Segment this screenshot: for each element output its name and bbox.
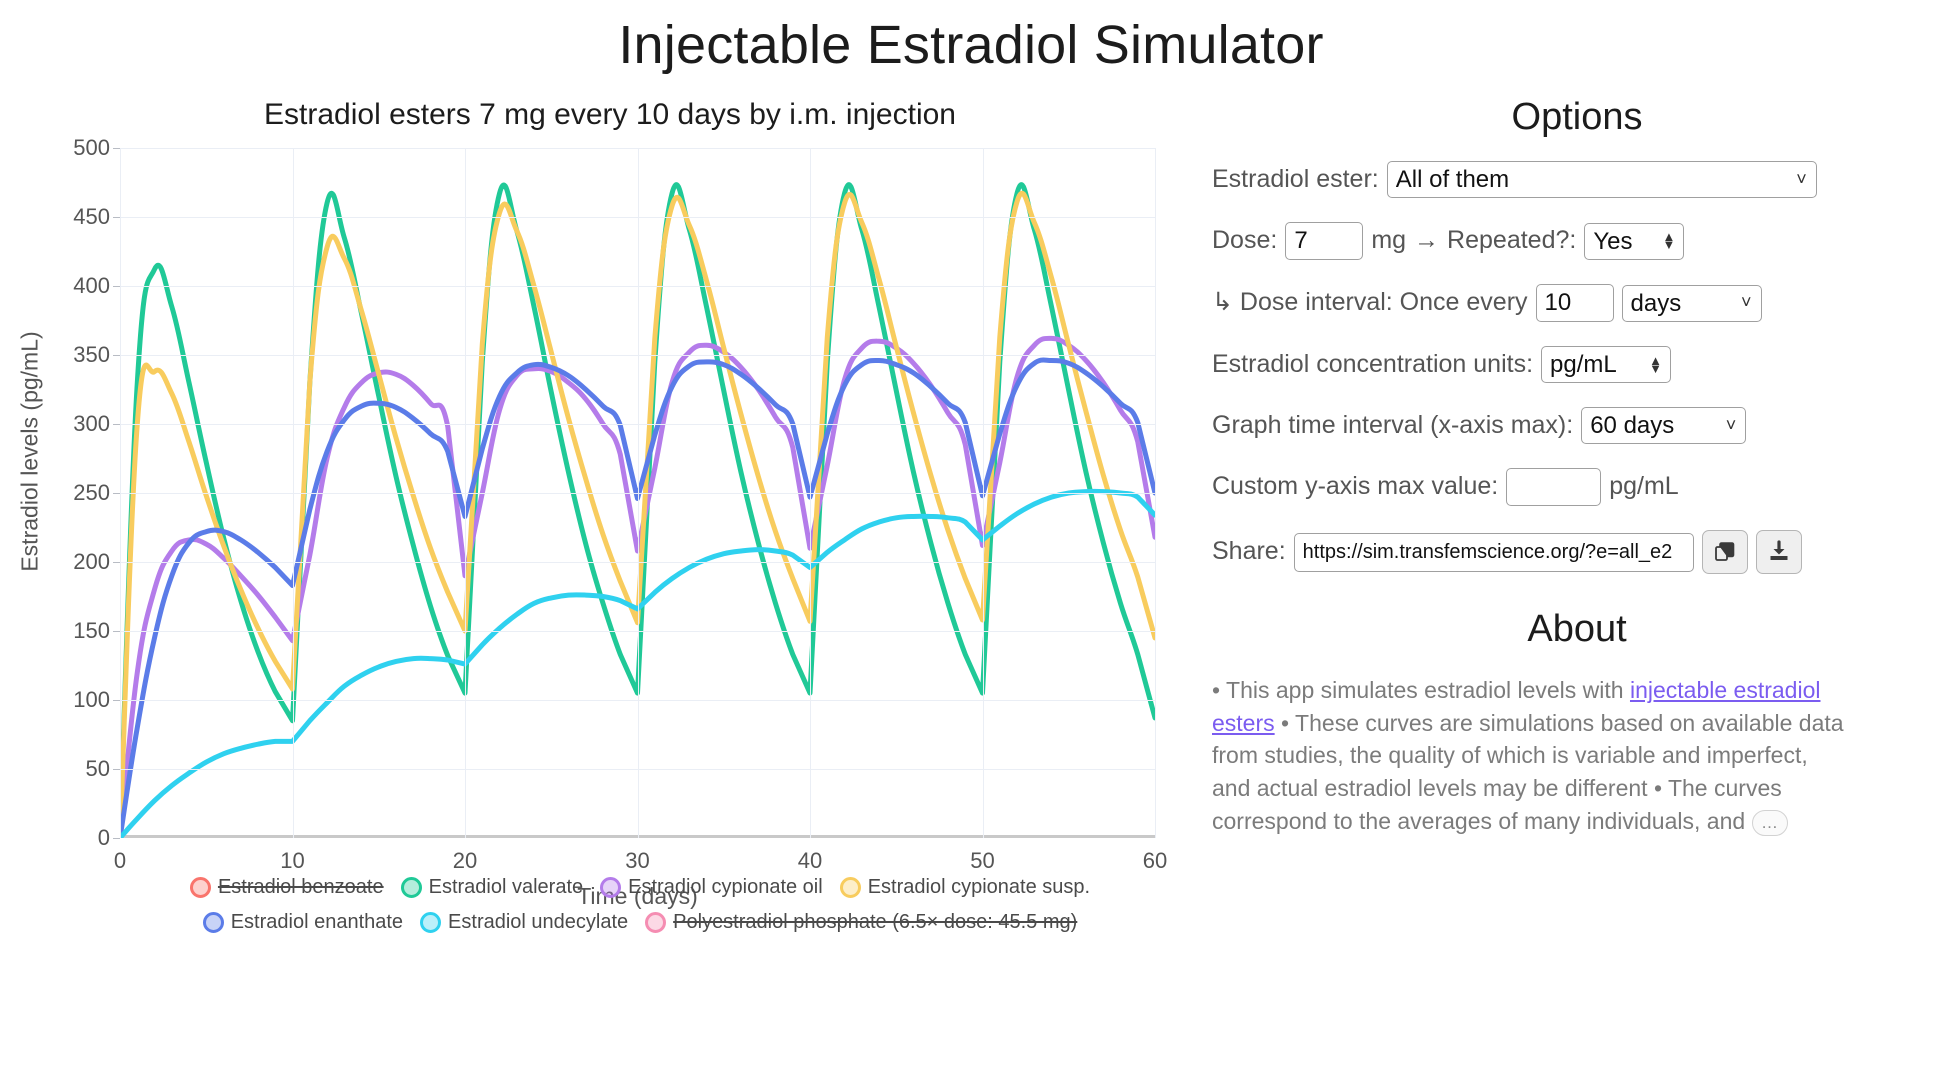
x-tick-label: 0 [80,848,160,874]
repeated-select[interactable]: Yes [1584,223,1684,260]
grid-line [465,148,466,838]
x-tick-label: 50 [943,848,1023,874]
units-label: Estradiol concentration units: [1212,351,1533,379]
dose-label: Dose: [1212,227,1277,255]
arrow-glyph: → [1414,227,1439,255]
legend-swatch-icon [600,877,621,898]
ymax-unit-label: pg/mL [1609,473,1678,501]
ymax-row: Custom y-axis max value: pg/mL [1212,468,1942,506]
interval-label: ↳ Dose interval: Once every [1212,289,1528,317]
options-heading: Options [1212,96,1942,139]
y-tick-label: 150 [10,618,110,644]
legend-swatch-icon [401,877,422,898]
legend-swatch-icon [190,877,211,898]
y-tick-mark [113,838,120,839]
copy-link-button[interactable] [1702,530,1748,574]
repeated-label: Repeated?: [1447,227,1576,255]
legend-item[interactable]: Estradiol cypionate oil [600,876,823,899]
dose-unit-label: mg [1371,227,1406,255]
units-select[interactable]: pg/mL [1541,346,1671,383]
legend-item[interactable]: Polyestradiol phosphate (6.5× dose: 45.5… [645,911,1077,934]
about-text: • This app simulates estradiol levels wi… [1212,674,1852,837]
legend-label: Estradiol undecylate [448,911,628,934]
y-tick-mark [113,769,120,770]
y-tick-label: 400 [10,273,110,299]
plot-area[interactable]: 0501001502002503003504004505000102030405… [120,148,1155,838]
y-tick-mark [113,493,120,494]
page-title: Injectable Estradiol Simulator [0,14,1942,76]
ester-label: Estradiol ester: [1212,166,1379,194]
legend-label: Polyestradiol phosphate (6.5× dose: 45.5… [673,911,1077,934]
share-row: Share: [1212,530,1942,574]
units-select-wrap[interactable]: pg/mL ▲▼ [1541,346,1671,383]
y-tick-mark [113,217,120,218]
y-tick-label: 500 [10,135,110,161]
main-layout: Estradiol esters 7 mg every 10 days by i… [0,76,1942,1076]
y-tick-mark [113,355,120,356]
about-text-part1: • This app simulates estradiol levels wi… [1212,677,1630,703]
legend-label: Estradiol valerate [429,876,584,899]
download-button[interactable] [1756,530,1802,574]
ester-row: Estradiol ester: All of them ˅ [1212,161,1942,198]
legend-row: Estradiol benzoateEstradiol valerateEstr… [110,876,1170,899]
dose-input[interactable] [1285,222,1363,260]
interval-row: ↳ Dose interval: Once every days ˅ [1212,284,1942,322]
y-tick-label: 200 [10,549,110,575]
grid-line [638,148,639,838]
y-tick-label: 250 [10,480,110,506]
y-tick-mark [113,286,120,287]
interval-unit-wrap[interactable]: days ˅ [1622,285,1762,322]
xmax-label: Graph time interval (x-axis max): [1212,412,1573,440]
legend-label: Estradiol enanthate [231,911,403,934]
download-icon [1767,540,1791,564]
legend-swatch-icon [645,912,666,933]
y-tick-label: 100 [10,687,110,713]
interval-input[interactable] [1536,284,1614,322]
interval-unit-select[interactable]: days [1622,285,1762,322]
chart-legend[interactable]: Estradiol benzoateEstradiol valerateEstr… [110,876,1170,946]
grid-line [810,148,811,838]
grid-line [983,148,984,838]
y-tick-mark [113,700,120,701]
legend-label: Estradiol cypionate susp. [868,876,1090,899]
about-heading: About [1212,608,1942,651]
legend-swatch-icon [840,877,861,898]
plot-wrapper: Estradiol levels (pg/mL) 050100150200250… [0,138,1180,838]
legend-item[interactable]: Estradiol benzoate [190,876,384,899]
xmax-row: Graph time interval (x-axis max): 60 day… [1212,407,1942,444]
grid-line [120,148,121,838]
legend-row: Estradiol enanthateEstradiol undecylateP… [110,911,1170,934]
repeated-select-wrap[interactable]: Yes ▲▼ [1584,223,1684,260]
x-tick-label: 40 [770,848,850,874]
units-row: Estradiol concentration units: pg/mL ▲▼ [1212,346,1942,383]
y-tick-label: 300 [10,411,110,437]
options-column: Options Estradiol ester: All of them ˅ D… [1200,76,1942,1076]
x-tick-label: 20 [425,848,505,874]
y-tick-label: 350 [10,342,110,368]
legend-item[interactable]: Estradiol enanthate [203,911,403,934]
legend-swatch-icon [203,912,224,933]
grid-line [293,148,294,838]
x-tick-label: 60 [1115,848,1195,874]
chart-column: Estradiol esters 7 mg every 10 days by i… [0,76,1200,1076]
grid-line [1155,148,1156,838]
legend-item[interactable]: Estradiol valerate [401,876,584,899]
share-input[interactable] [1294,533,1694,572]
y-tick-mark [113,148,120,149]
xmax-select-wrap[interactable]: 60 days ˅ [1581,407,1746,444]
y-tick-label: 450 [10,204,110,230]
about-text-part2: • These curves are simulations based on … [1212,710,1844,834]
ymax-input[interactable] [1506,468,1601,506]
legend-label: Estradiol cypionate oil [628,876,823,899]
dose-row: Dose: mg → Repeated?: Yes ▲▼ [1212,222,1942,260]
ester-select-wrap[interactable]: All of them ˅ [1387,161,1817,198]
y-tick-mark [113,562,120,563]
legend-swatch-icon [420,912,441,933]
legend-item[interactable]: Estradiol undecylate [420,911,628,934]
x-tick-label: 30 [598,848,678,874]
share-label: Share: [1212,538,1286,566]
y-tick-label: 50 [10,756,110,782]
y-tick-mark [113,424,120,425]
show-more-button[interactable]: … [1752,810,1788,836]
ester-select[interactable]: All of them [1387,161,1817,198]
x-tick-label: 10 [253,848,333,874]
legend-label: Estradiol benzoate [218,876,384,899]
y-tick-mark [113,631,120,632]
ymax-label: Custom y-axis max value: [1212,473,1498,501]
copy-icon [1713,540,1737,564]
xmax-select[interactable]: 60 days [1581,407,1746,444]
legend-item[interactable]: Estradiol cypionate susp. [840,876,1090,899]
chart-title: Estradiol esters 7 mg every 10 days by i… [20,98,1200,132]
